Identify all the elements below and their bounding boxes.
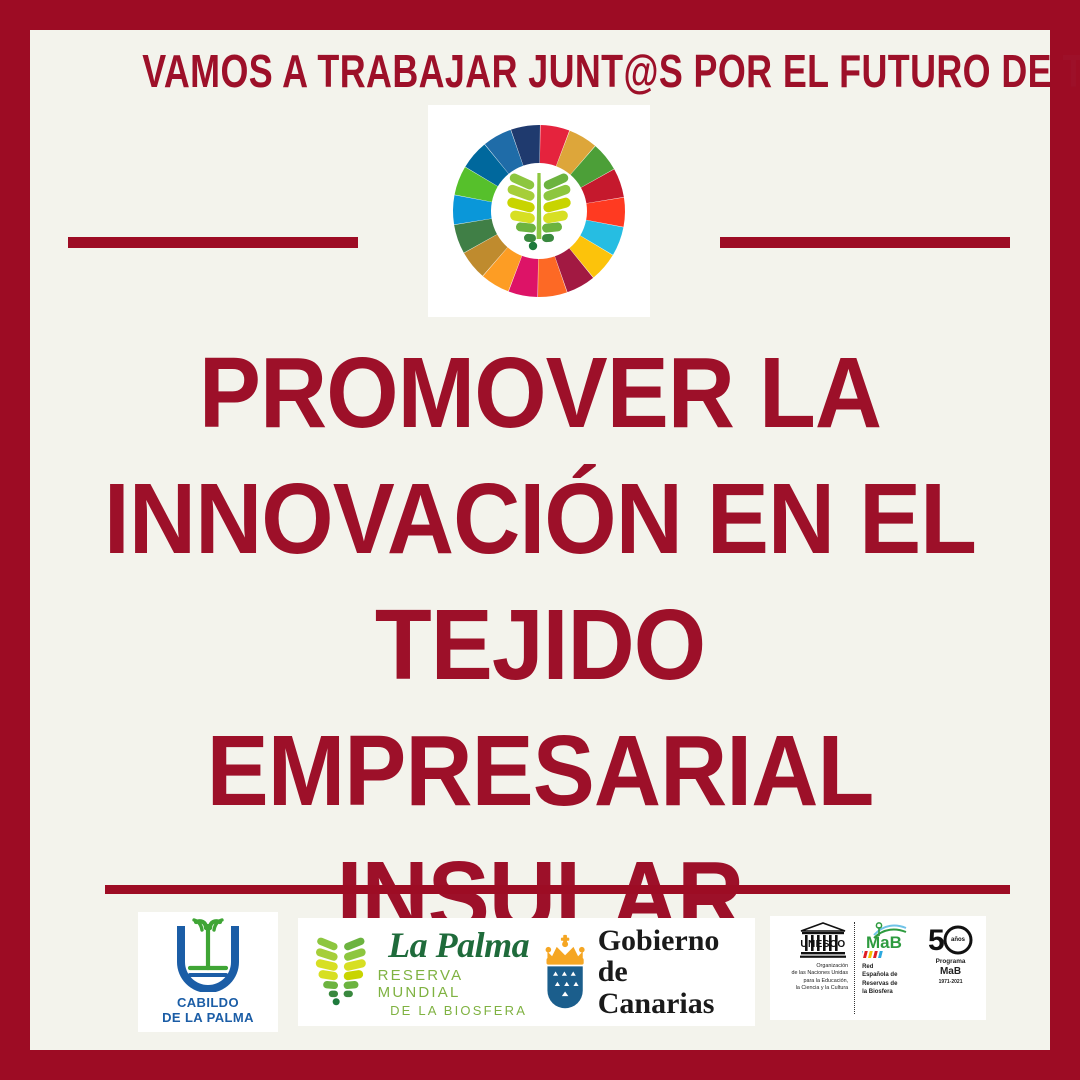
unesco-caption-line-3: para la Educación,	[791, 978, 848, 985]
svg-text:UNESCO: UNESCO	[801, 939, 846, 950]
unesco-caption-line-1: Organización	[791, 963, 848, 970]
logo-strip: CABILDO DE LA PALMA	[30, 912, 1050, 1032]
institution-logos-panel: La Palma RESERVA MUNDIAL DE LA BIOSFERA	[298, 918, 755, 1026]
mab-red-caption-line-3: Reservas de	[862, 980, 897, 988]
unesco-caption-line-4: la Ciencia y la Cultura	[791, 985, 848, 992]
mab-icon: MaB	[862, 922, 908, 960]
sdg-wheel-icon	[428, 105, 650, 317]
unesco-caption-line-2: de las Naciones Unidas	[791, 970, 848, 977]
title-line-1: PROMOVER LA	[84, 330, 995, 456]
programa-mab-caption-line-2: MaB	[936, 966, 966, 979]
mab-red-caption-line-4: la Biosfera	[862, 988, 897, 996]
unesco-caption: Organización de las Naciones Unidas para…	[791, 963, 848, 992]
fifty-years-icon: 5 años	[927, 922, 975, 956]
gobierno-line-1: Gobierno	[598, 925, 741, 957]
logo-separator	[854, 922, 856, 1014]
cabildo-de-la-palma-icon	[165, 918, 251, 992]
la-palma-wordmark: La Palma	[388, 927, 529, 963]
la-palma-frond-icon	[312, 930, 370, 1014]
svg-text:MaB: MaB	[866, 933, 902, 952]
cabildo-logo-panel: CABILDO DE LA PALMA	[138, 912, 278, 1032]
gobierno-de-canarias-logo: Gobierno de Canarias	[540, 925, 741, 1020]
mab-red-caption-line-1: Red	[862, 963, 897, 971]
poster-canvas: VAMOS A TRABAJAR JUNT@S POR EL FUTURO DE…	[30, 30, 1050, 1050]
unesco-mab-logos-panel: UNESCO Organización de las Naciones Unid…	[770, 916, 986, 1020]
programa-mab-50-logo: 5 años Programa MaB 1971-2021	[923, 922, 978, 985]
cabildo-label: CABILDO DE LA PALMA	[162, 996, 254, 1025]
programa-mab-years: 1971-2021	[936, 979, 966, 985]
canarias-shield-icon	[540, 930, 590, 1014]
svg-text:años: años	[951, 937, 966, 943]
cabildo-label-line-1: CABILDO	[162, 996, 254, 1011]
la-palma-sub-line-2: DE LA BIOSFERA	[390, 1003, 527, 1018]
mab-red-caption: Red Española de Reservas de la Biosfera	[862, 963, 897, 997]
title-line-3: TEJIDO EMPRESARIAL	[84, 582, 995, 834]
red-espanola-mab-logo: MaB Red Española	[862, 922, 917, 997]
cabildo-label-line-2: DE LA PALMA	[162, 1011, 254, 1026]
kicker-headline: VAMOS A TRABAJAR JUNT@S POR EL FUTURO DE…	[142, 48, 938, 94]
unesco-logo: UNESCO Organización de las Naciones Unid…	[778, 922, 848, 992]
decorative-rule-right	[720, 237, 1010, 248]
gobierno-line-2: de Canarias	[598, 956, 741, 1019]
la-palma-biosfera-logo: La Palma RESERVA MUNDIAL DE LA BIOSFERA	[312, 927, 540, 1018]
decorative-rule-left	[68, 237, 358, 248]
footer-divider	[105, 885, 1010, 894]
programa-mab-caption: Programa MaB 1971-2021	[936, 958, 966, 985]
page-title: PROMOVER LA INNOVACIÓN EN EL TEJIDO EMPR…	[84, 330, 995, 960]
svg-text:5: 5	[928, 924, 945, 956]
poster-frame: VAMOS A TRABAJAR JUNT@S POR EL FUTURO DE…	[0, 0, 1080, 1080]
programa-mab-caption-line-1: Programa	[936, 958, 966, 966]
unesco-temple-icon: UNESCO	[798, 922, 848, 960]
title-line-2: INNOVACIÓN EN EL	[84, 456, 995, 582]
la-palma-sub-line-1: RESERVA MUNDIAL	[378, 967, 540, 1001]
mab-red-caption-line-2: Española de	[862, 971, 897, 979]
